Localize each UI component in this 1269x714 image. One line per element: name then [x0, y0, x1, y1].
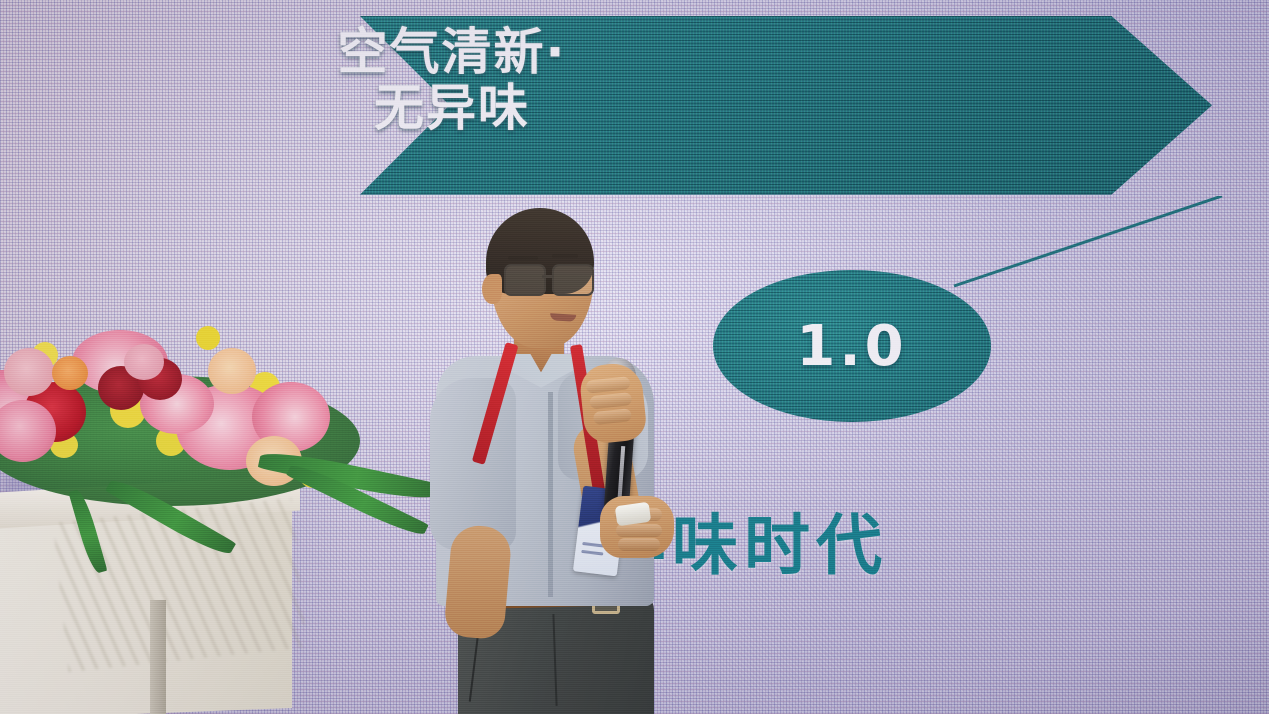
eyebrow	[508, 256, 538, 260]
eyeglasses-icon	[504, 264, 596, 294]
presenter	[430, 196, 680, 714]
presenter-arm-left	[443, 524, 513, 641]
lens-left	[504, 264, 546, 296]
shirt-placket	[548, 392, 553, 597]
pink-rose-flower	[124, 344, 164, 380]
version-oval-badge: 1.0	[713, 270, 991, 422]
orange-rose-flower	[52, 356, 88, 390]
peach-rose-flower	[208, 348, 256, 394]
lens-right	[552, 264, 594, 296]
podium-pole	[150, 600, 166, 714]
finger	[618, 538, 660, 551]
finger	[616, 524, 662, 537]
presenter-ear	[482, 274, 502, 304]
badge-text-line	[581, 550, 603, 556]
stage-photograph: 空气清新· 无异味 1.0 异味时代	[0, 0, 1269, 714]
finger	[589, 392, 632, 409]
banner-headline: 空气清新· 无异味	[262, 24, 642, 136]
eyebrow	[552, 254, 578, 258]
banner-headline-line2: 无异味	[262, 80, 642, 136]
finger	[586, 376, 631, 394]
yellow-filler-flower	[196, 326, 220, 350]
pink-rose-flower	[4, 348, 54, 396]
flower-arrangement	[0, 296, 460, 526]
shirt-sleeve-left	[430, 378, 516, 550]
version-label: 1.0	[713, 270, 991, 422]
finger	[593, 408, 632, 425]
banner-headline-line1: 空气清新·	[338, 23, 567, 81]
